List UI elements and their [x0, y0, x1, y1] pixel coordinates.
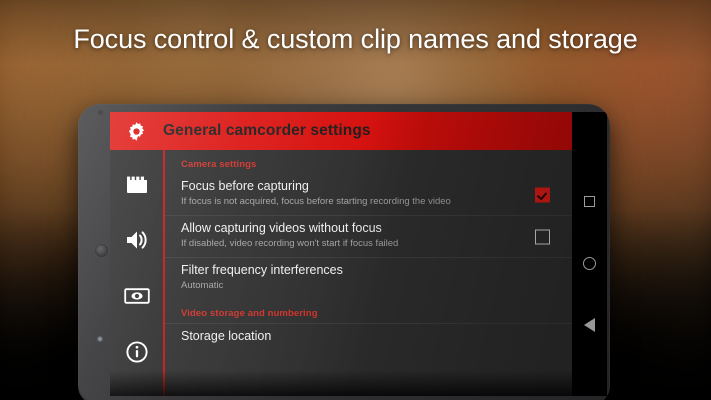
setting-value: Automatic — [181, 279, 556, 292]
back-triangle-icon — [584, 318, 595, 332]
sidebar-item-audio-settings[interactable] — [110, 214, 163, 270]
app-topbar: General camcorder settings — [110, 112, 572, 150]
setting-row-storage-location[interactable]: Storage location — [165, 323, 572, 353]
setting-title: Allow capturing videos without focus — [181, 221, 556, 236]
home-button[interactable] — [572, 232, 607, 294]
section-header-camera-settings: Camera settings — [165, 150, 572, 174]
setting-title: Focus before capturing — [181, 179, 556, 194]
proximity-sensor-icon — [98, 110, 103, 115]
sidebar-item-about-info[interactable] — [110, 326, 163, 382]
setting-row-allow-capturing-without-focus[interactable]: Allow capturing videos without focus If … — [165, 215, 572, 257]
gear-icon[interactable] — [110, 120, 163, 143]
phone-device: General camcorder settings Camera settin… — [78, 104, 610, 400]
setting-subtitle: If focus is not acquired, focus before s… — [181, 195, 556, 208]
eye-preview-icon — [124, 287, 150, 310]
phone-screen: General camcorder settings Camera settin… — [110, 112, 607, 396]
settings-list[interactable]: Camera settings Focus before capturing I… — [163, 150, 572, 396]
clapperboard-icon — [125, 174, 149, 199]
recents-square-icon — [584, 196, 595, 207]
promo-screenshot: Focus control & custom clip names and st… — [0, 0, 711, 400]
setting-title: Storage location — [181, 329, 556, 344]
page-title: General camcorder settings — [163, 122, 371, 140]
back-button[interactable] — [572, 294, 607, 356]
home-circle-icon — [583, 257, 596, 270]
speaker-icon — [125, 229, 149, 256]
checkbox-focus-before-capturing[interactable] — [535, 187, 550, 202]
section-header-video-storage: Video storage and numbering — [165, 299, 572, 323]
setting-row-focus-before-capturing[interactable]: Focus before capturing If focus is not a… — [165, 174, 572, 215]
camcorder-settings-app: General camcorder settings Camera settin… — [110, 112, 572, 396]
android-navigation-bar — [572, 112, 607, 396]
setting-subtitle: If disabled, video recording won't start… — [181, 237, 556, 250]
setting-row-filter-frequency-interferences[interactable]: Filter frequency interferences Automatic — [165, 257, 572, 299]
checkbox-allow-capturing-without-focus[interactable] — [535, 229, 550, 244]
sidebar-rail — [110, 112, 163, 396]
recents-button[interactable] — [572, 170, 607, 232]
sidebar-item-video-settings[interactable] — [110, 158, 163, 214]
camera-lens-icon — [95, 244, 108, 257]
setting-title: Filter frequency interferences — [181, 263, 556, 278]
led-indicator-icon — [97, 336, 103, 342]
promo-headline: Focus control & custom clip names and st… — [0, 24, 711, 55]
sidebar-item-preview-settings[interactable] — [110, 270, 163, 326]
info-circle-icon — [125, 340, 149, 369]
